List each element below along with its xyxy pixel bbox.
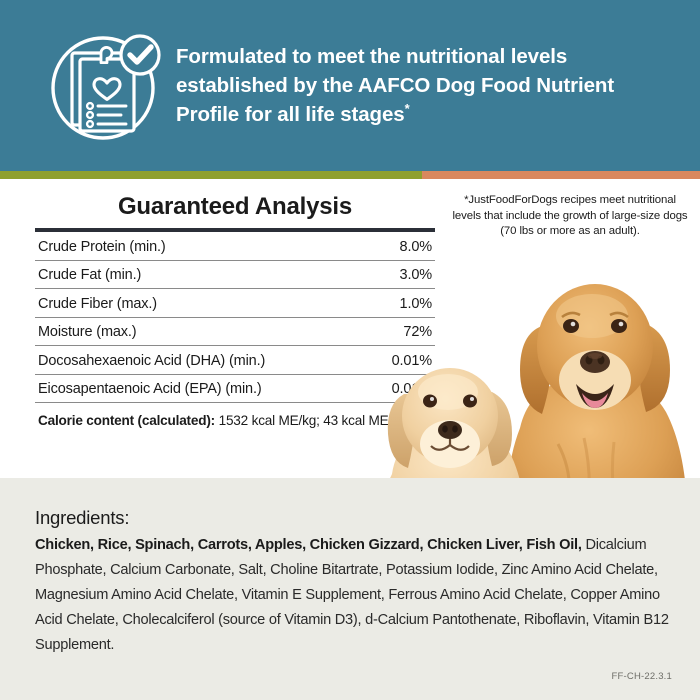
nutrient-name: Crude Protein (min.) [35,230,368,260]
nutrient-value: 3.0% [368,260,435,289]
guaranteed-analysis-table: Crude Protein (min.) 8.0% Crude Fat (min… [35,228,435,403]
accent-bar-orange [422,171,700,179]
ingredients-title: Ingredients: [35,507,129,529]
aafco-statement-line-2: established by the AAFCO Dog Food Nutrie… [176,71,614,100]
nutrient-name: Docosahexaenoic Acid (DHA) (min.) [35,346,368,375]
calorie-content-value: 1532 kcal ME/kg; 43 kcal ME/oz [219,413,406,428]
nutrient-name: Moisture (max.) [35,317,368,346]
nutrient-name: Eicosapentaenoic Acid (EPA) (min.) [35,374,368,403]
table-row: Crude Protein (min.) 8.0% [35,230,435,260]
aafco-asterisk: * [405,101,410,116]
guaranteed-analysis-block: Guaranteed Analysis Crude Protein (min.)… [35,193,435,428]
table-row: Docosahexaenoic Acid (DHA) (min.) 0.01% [35,346,435,375]
aafco-statement-line-1: Formulated to meet the nutritional level… [176,42,614,71]
nutrient-name: Crude Fiber (max.) [35,289,368,318]
table-row: Moisture (max.) 72% [35,317,435,346]
nutrient-value: 8.0% [368,230,435,260]
nutrition-label-page: Formulated to meet the nutritional level… [0,0,700,700]
clipboard-check-heart-icon [42,22,170,150]
aafco-statement-line-3: Profile for all life stages* [176,100,614,129]
calorie-content-label: Calorie content (calculated): [38,413,215,428]
nutrient-value: 0.01% [368,346,435,375]
aafco-statement-line-3-text: Profile for all life stages [176,103,405,126]
ingredients-list: Chicken, Rice, Spinach, Carrots, Apples,… [35,533,673,658]
analysis-section: Guaranteed Analysis Crude Protein (min.)… [0,179,700,478]
product-code: FF-CH-22.3.1 [612,671,672,682]
nutrient-value: 72% [368,317,435,346]
ingredients-rest: Dicalcium Phosphate, Calcium Carbonate, … [35,537,669,653]
guaranteed-analysis-title: Guaranteed Analysis [35,193,435,221]
aafco-header-banner: Formulated to meet the nutritional level… [0,0,700,171]
table-row: Crude Fiber (max.) 1.0% [35,289,435,318]
table-row: Eicosapentaenoic Acid (EPA) (min.) 0.01% [35,374,435,403]
ingredients-section: Ingredients: Chicken, Rice, Spinach, Car… [0,478,700,700]
ingredients-highlighted: Chicken, Rice, Spinach, Carrots, Apples,… [35,537,582,553]
nutrient-value: 0.01% [368,374,435,403]
table-row: Crude Fat (min.) 3.0% [35,260,435,289]
aafco-footnote: *JustFoodForDogs recipes meet nutritiona… [452,193,688,240]
nutrient-value: 1.0% [368,289,435,318]
nutrient-name: Crude Fat (min.) [35,260,368,289]
accent-bar-green [0,171,422,179]
calorie-content-line: Calorie content (calculated): 1532 kcal … [35,413,435,428]
aafco-statement: Formulated to meet the nutritional level… [176,42,614,129]
